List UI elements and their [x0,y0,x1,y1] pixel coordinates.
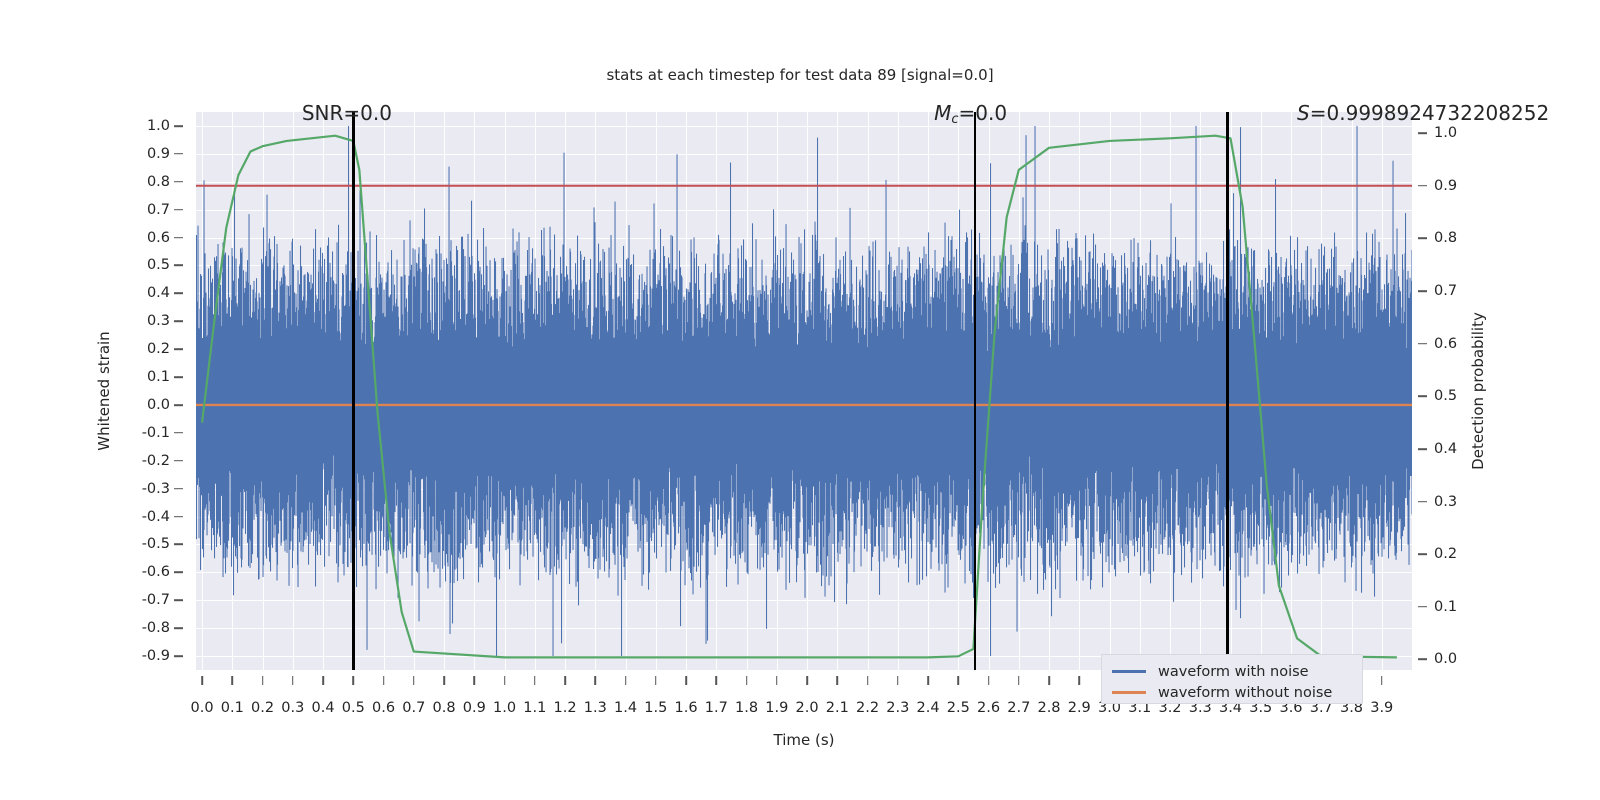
y-axis-right-tick-label: 1.0 [1434,125,1457,141]
y-axis-left-tick-label: 0.5 [147,257,170,273]
noise-waveform [196,126,1412,656]
series-overlay [196,112,1412,670]
y-axis-left-tick-label: 0.0 [147,397,170,413]
y-axis-right-tick-mark [1418,395,1427,397]
y-axis-left-tick-label: -0.1 [142,425,170,441]
y-axis-left-tick-label: -0.4 [142,509,170,525]
y-axis-left-tick-label: 0.9 [147,146,170,162]
x-axis-tick-label: 2.6 [977,700,1000,716]
y-axis-left-tick-label: 0.3 [147,313,170,329]
x-axis-tick-label: 0.7 [402,700,425,716]
x-axis-tick-mark [957,676,959,685]
annotation-score: S=0.9998924732208252 [1297,101,1549,125]
y-axis-left-tick-label: 0.1 [147,369,170,385]
y-axis-left-tick-label: -0.7 [142,592,170,608]
y-axis-right-tick-label: 0.0 [1434,651,1457,667]
x-axis-title: Time (s) [196,731,1412,749]
x-axis-tick-label: 1.6 [674,700,697,716]
y-axis-left-tick-mark [174,599,183,601]
chart-title: stats at each timestep for test data 89 … [0,66,1600,84]
legend-item: waveform without noise [1102,682,1362,703]
y-axis-left-tick-label: -0.9 [142,648,170,664]
y-axis-right-tick-mark [1418,185,1427,187]
x-axis-tick-label: 0.8 [433,700,456,716]
x-axis-tick-mark [473,676,475,685]
x-axis-tick-label: 3.9 [1370,700,1393,716]
y-axis-right-tick-label: 0.9 [1434,178,1457,194]
y-axis-left-tick-label: -0.8 [142,620,170,636]
y-axis-right-tick-mark [1418,343,1427,345]
x-axis-tick-label: 1.2 [553,700,576,716]
y-axis-left-tick-mark [174,460,183,462]
x-axis-tick-label: 1.9 [765,700,788,716]
x-axis-tick-label: 2.8 [1037,700,1060,716]
y-axis-right-tick-mark [1418,238,1427,240]
y-axis-left-tick-mark [174,516,183,518]
x-axis-tick-mark [262,676,264,685]
x-axis-tick-label: 1.1 [523,700,546,716]
x-axis-tick-mark [232,676,234,685]
x-axis-tick-label: 0.5 [342,700,365,716]
x-axis-tick-mark [897,676,899,685]
y-axis-left-tick-label: -0.6 [142,564,170,580]
x-axis-tick-mark [1048,676,1050,685]
annotation-chirp-mass: Mc=0.0 [934,101,1007,127]
x-axis-tick-mark [806,676,808,685]
x-axis-tick-label: 0.2 [251,700,274,716]
y-axis-left-tick-mark [174,488,183,490]
y-axis-right-tick-mark [1418,501,1427,503]
x-axis-tick-label: 2.9 [1068,700,1091,716]
x-axis-tick-mark [685,676,687,685]
y-axis-right-tick-label: 0.8 [1434,230,1457,246]
legend-swatch-clean [1112,691,1146,693]
x-axis-tick-mark [534,676,536,685]
x-axis-tick-mark [322,676,324,685]
x-axis-tick-mark [988,676,990,685]
y-axis-right-tick-mark [1418,132,1427,134]
x-axis-tick-mark [746,676,748,685]
y-axis-left-tick-mark [174,376,183,378]
y-axis-right-tick-label: 0.1 [1434,599,1457,615]
x-axis-tick-mark [715,676,717,685]
y-axis-right-tick-label: 0.6 [1434,336,1457,352]
x-axis-tick-mark [594,676,596,685]
y-axis-left-tick-mark [174,572,183,574]
x-axis-tick-label: 1.3 [584,700,607,716]
annotation-snr: SNR=0.0 [302,101,392,125]
merger-marker-1 [352,112,355,670]
x-axis-tick-label: 0.6 [372,700,395,716]
y-axis-left-tick-label: 0.4 [147,285,170,301]
x-axis-tick-mark [1078,676,1080,685]
legend-item: waveform with noise [1102,661,1362,682]
y-axis-left-tick-label: 0.8 [147,174,170,190]
annotation-chirp-mass-symbol: M [934,101,951,125]
x-axis-tick-label: 1.5 [644,700,667,716]
x-axis-tick-mark [504,676,506,685]
y-axis-right-tick-label: 0.2 [1434,546,1457,562]
x-axis-tick-mark [564,676,566,685]
y-axis-right-tick-label: 0.3 [1434,494,1457,510]
y-axis-right-tick-label: 0.5 [1434,388,1457,404]
y-axis-left-tick-mark [174,293,183,295]
y-axis-left-tick-mark [174,320,183,322]
legend-label-clean: waveform without noise [1158,685,1332,701]
y-axis-left-tick-mark [174,627,183,629]
x-axis-tick-mark [1381,676,1383,685]
x-axis-tick-label: 0.9 [463,700,486,716]
y-axis-left-ticks: 1.00.90.80.70.60.50.40.30.20.10.0-0.1-0.… [0,112,186,670]
x-axis-tick-mark [776,676,778,685]
y-axis-left-tick-label: 1.0 [147,118,170,134]
x-axis-tick-mark [383,676,385,685]
x-axis-tick-label: 2.2 [856,700,879,716]
y-axis-left-tick-mark [174,181,183,183]
x-axis-tick-label: 2.3 [886,700,909,716]
y-axis-left-tick-mark [174,237,183,239]
merger-marker-3 [1226,112,1229,670]
x-axis-tick-label: 1.4 [614,700,637,716]
x-axis-tick-label: 1.0 [493,700,516,716]
y-axis-left-tick-mark [174,655,183,657]
x-axis-tick-label: 0.0 [191,700,214,716]
y-axis-right-tick-label: 0.4 [1434,441,1457,457]
x-axis-tick-mark [836,676,838,685]
y-axis-left-tick-label: 0.7 [147,202,170,218]
annotation-score-symbol: S [1297,101,1310,125]
x-axis-tick-mark [927,676,929,685]
y-axis-left-tick-label: -0.2 [142,453,170,469]
legend-swatch-noise [1112,670,1146,672]
x-axis-tick-label: 1.8 [735,700,758,716]
y-axis-left-tick-label: 0.6 [147,230,170,246]
y-axis-left-tick-label: -0.5 [142,536,170,552]
annotation-chirp-mass-value: =0.0 [958,101,1007,125]
chart-root: stats at each timestep for test data 89 … [0,0,1600,800]
x-axis-tick-mark [413,676,415,685]
y-axis-right-title: Detection probability [1469,312,1487,470]
x-axis-tick-label: 2.5 [947,700,970,716]
y-axis-left-title: Whitened strain [95,331,113,450]
x-axis-tick-label: 0.1 [221,700,244,716]
y-axis-left-tick-mark [174,544,183,546]
y-axis-left-tick-mark [174,265,183,267]
legend: waveform with noise waveform without noi… [1101,654,1363,704]
y-axis-left-tick-label: 0.2 [147,341,170,357]
merger-marker-2 [974,112,977,670]
x-axis-tick-mark [655,676,657,685]
x-axis-tick-mark [352,676,354,685]
y-axis-right-tick-label: 0.7 [1434,283,1457,299]
x-axis-tick-mark [443,676,445,685]
x-axis-tick-mark [292,676,294,685]
y-axis-left-tick-mark [174,125,183,127]
annotation-score-value: =0.9998924732208252 [1310,101,1549,125]
x-axis-tick-label: 2.1 [826,700,849,716]
x-axis-tick-label: 2.0 [795,700,818,716]
x-axis-tick-label: 0.3 [281,700,304,716]
x-axis-tick-mark [1018,676,1020,685]
y-axis-right-tick-mark [1418,606,1427,608]
x-axis-tick-mark [201,676,203,685]
y-axis-left-tick-mark [174,209,183,211]
legend-label-noise: waveform with noise [1158,664,1309,680]
x-axis-tick-label: 2.7 [1007,700,1030,716]
plot-area [196,112,1412,670]
x-axis-tick-mark [867,676,869,685]
x-axis-tick-label: 2.4 [916,700,939,716]
y-axis-right-tick-mark [1418,448,1427,450]
y-axis-left-tick-mark [174,348,183,350]
y-axis-left-tick-label: -0.3 [142,481,170,497]
x-axis-tick-mark [625,676,627,685]
y-axis-right-tick-mark [1418,659,1427,661]
x-axis-tick-label: 1.7 [705,700,728,716]
y-axis-right-tick-mark [1418,290,1427,292]
y-axis-left-tick-mark [174,404,183,406]
y-axis-right-tick-mark [1418,553,1427,555]
x-axis-tick-label: 0.4 [312,700,335,716]
y-axis-left-tick-mark [174,153,183,155]
y-axis-left-tick-mark [174,432,183,434]
